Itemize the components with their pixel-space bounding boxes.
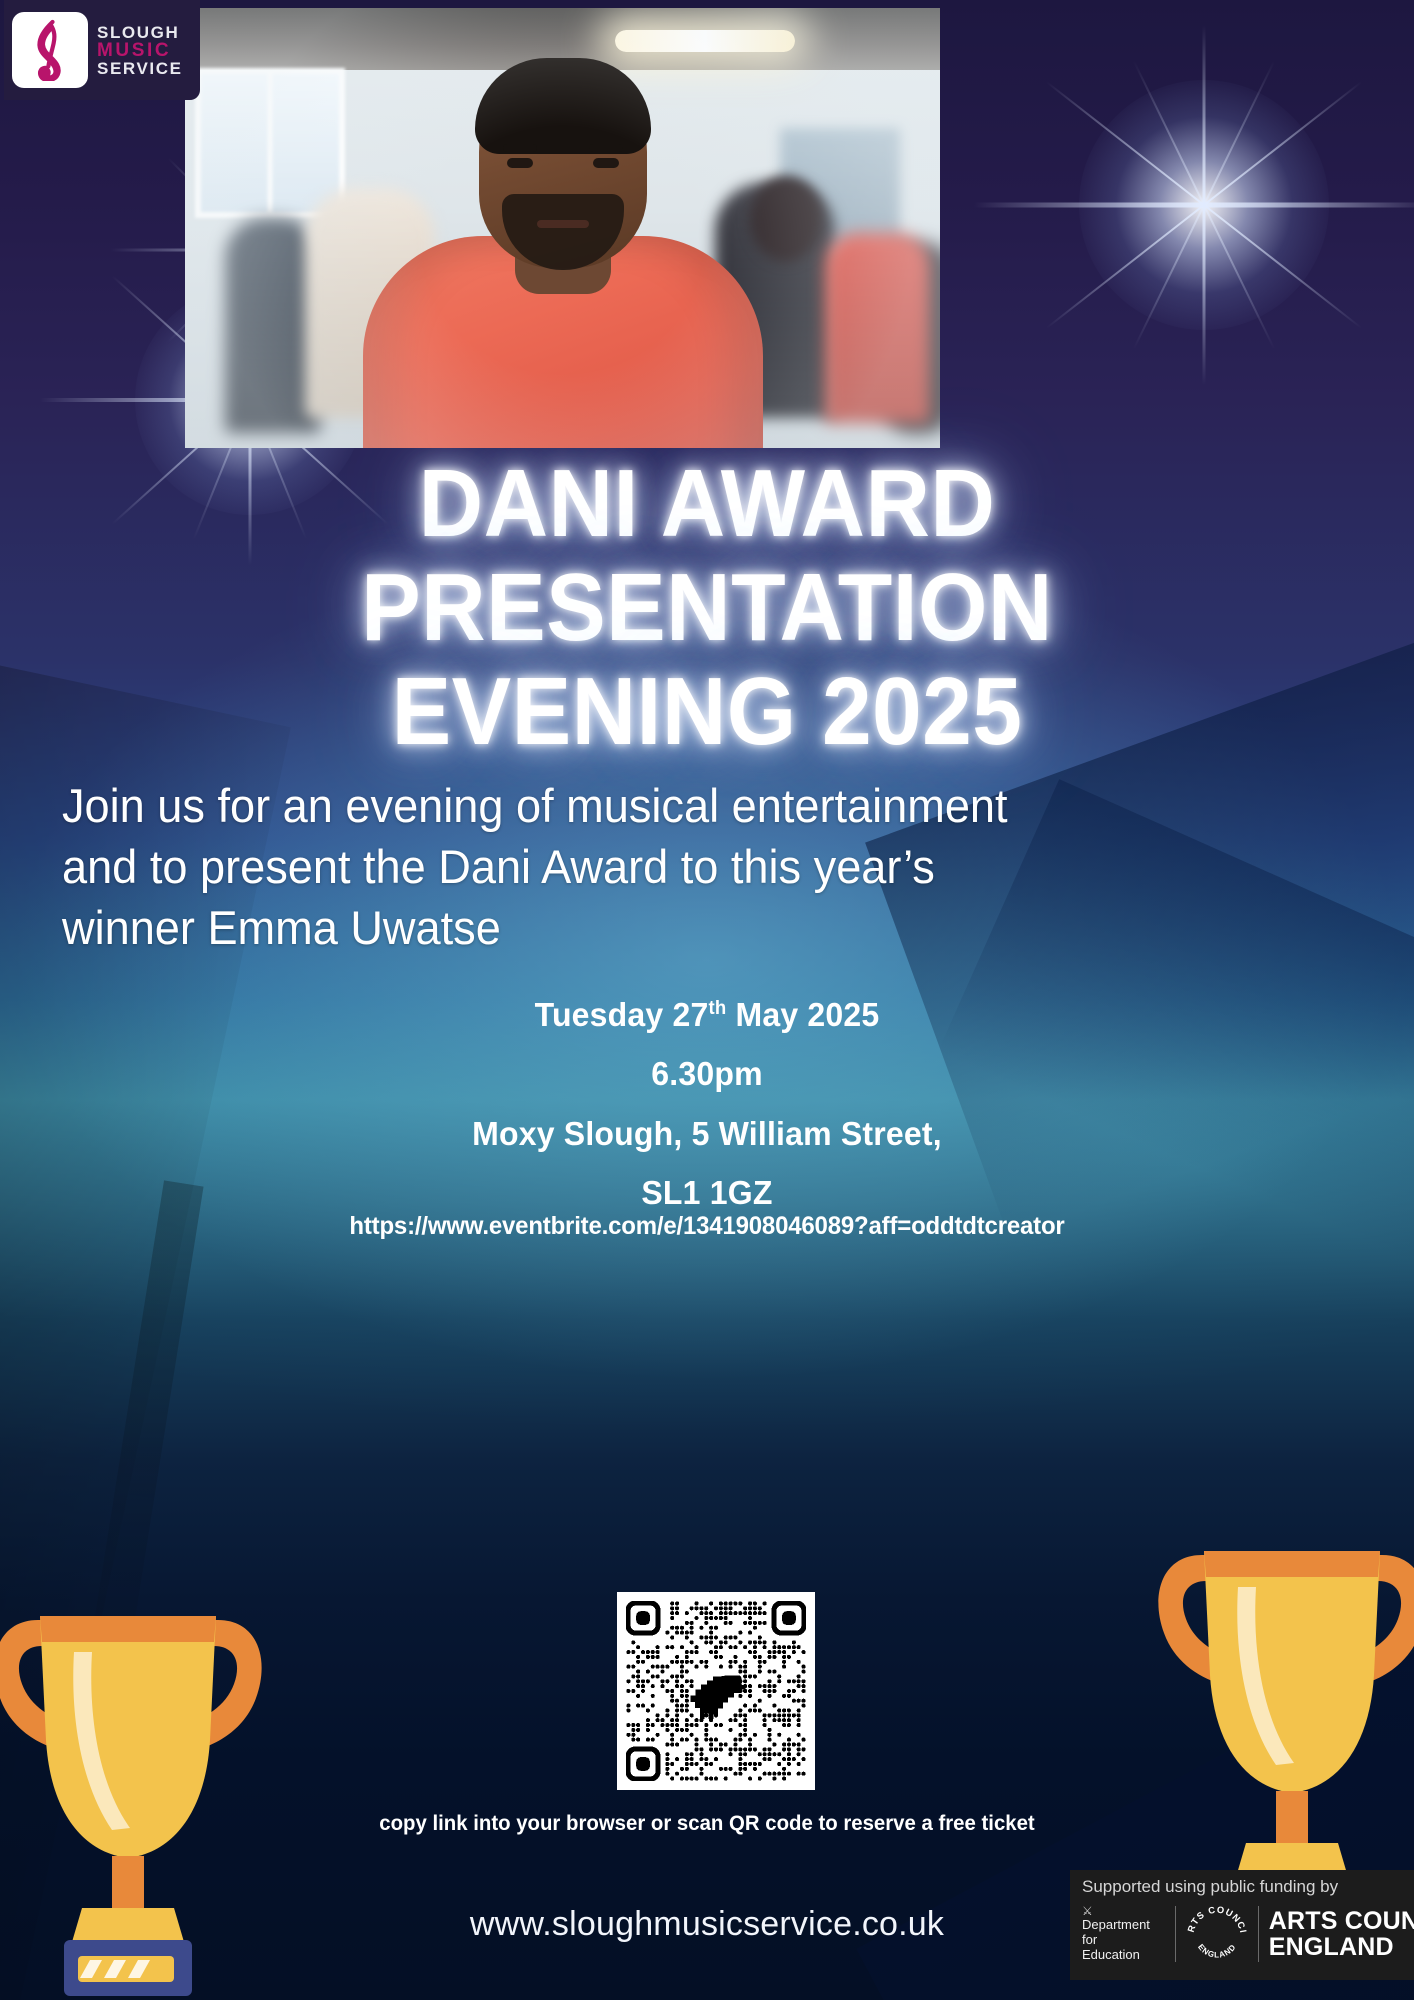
- title-line-2: PRESENTATION: [49, 559, 1364, 657]
- dfe-logo: ⚔ Department for Education: [1082, 1905, 1165, 1964]
- divider: [1175, 1906, 1176, 1962]
- event-date: Tuesday 27th May 2025: [21, 985, 1393, 1044]
- trophy-icon-left: [0, 1590, 278, 2000]
- svg-text:ARTS COUNCIL: ARTS COUNCIL: [1186, 1903, 1248, 1934]
- dfe-line-2: for Education: [1082, 1933, 1157, 1963]
- treble-clef-icon: [12, 12, 88, 88]
- funder-lockup: Supported using public funding by ⚔ Depa…: [1070, 1870, 1414, 1980]
- ceiling-light: [615, 30, 795, 52]
- logo-line-service: SERVICE: [97, 60, 183, 77]
- logo-line-music: MUSIC: [97, 41, 183, 60]
- qr-code[interactable]: [617, 1592, 815, 1790]
- arts-council-seal-icon: ARTS COUNCIL ENGLAND: [1186, 1903, 1248, 1965]
- window: [195, 68, 345, 218]
- arts-council-name-line-1: ARTS COUNCIL: [1269, 1908, 1414, 1934]
- dfe-line-1: Department: [1082, 1918, 1157, 1933]
- poster-root: SLOUGH MUSIC SERVICE DANI AWARD PRESENTA…: [0, 0, 1414, 2000]
- svg-text:ENGLAND: ENGLAND: [1196, 1942, 1238, 1959]
- crown-icon: ⚔: [1082, 1905, 1157, 1919]
- intro-paragraph: Join us for an evening of musical entert…: [62, 775, 1032, 958]
- eventbrite-link[interactable]: https://www.eventbrite.com/e/13419080460…: [28, 1212, 1385, 1241]
- event-date-ordinal: th: [709, 998, 727, 1019]
- poster-title: DANI AWARD PRESENTATION EVENING 2025: [0, 455, 1414, 767]
- arts-council-wordmark: ARTS COUNCIL ENGLAND: [1269, 1908, 1414, 1960]
- logo-line-slough: SLOUGH: [97, 24, 183, 41]
- divider-2: [1258, 1906, 1259, 1962]
- title-line-3: EVENING 2025: [49, 663, 1364, 761]
- hero-photo: [185, 8, 940, 448]
- arts-council-name-line-2: ENGLAND: [1269, 1934, 1414, 1960]
- event-date-text: Tuesday 27: [535, 996, 709, 1033]
- event-date-month-year: May 2025: [726, 996, 879, 1033]
- logo-slough-music-service: SLOUGH MUSIC SERVICE: [4, 0, 200, 100]
- title-line-1: DANI AWARD: [49, 455, 1364, 553]
- event-venue: Moxy Slough, 5 William Street,: [21, 1104, 1393, 1163]
- funder-supported-text: Supported using public funding by: [1082, 1877, 1414, 1897]
- event-time: 6.30pm: [21, 1044, 1393, 1103]
- event-details: Tuesday 27th May 2025 6.30pm Moxy Slough…: [21, 985, 1393, 1223]
